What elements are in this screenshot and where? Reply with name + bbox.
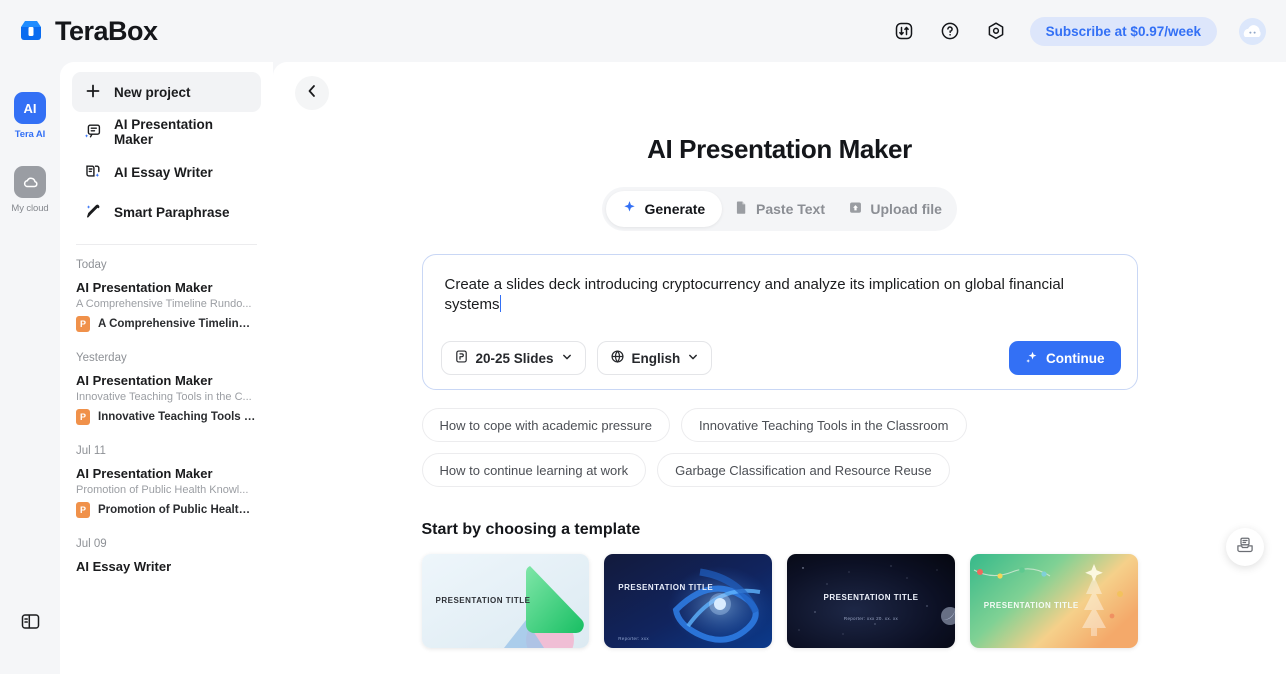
- nav-item-ai-presentation-maker[interactable]: AI Presentation Maker: [72, 112, 261, 152]
- tab-label-upload-file: Upload file: [870, 201, 942, 217]
- app-header: TeraBox Subscribe at $0.97/week: [0, 0, 1286, 62]
- nav-divider: [76, 244, 257, 245]
- history-item-subtitle: A Comprehensive Timeline Rundo...: [76, 298, 257, 310]
- history-item-title: AI Presentation Maker: [76, 280, 257, 295]
- history-item-file[interactable]: P Promotion of Public Health K...: [76, 502, 257, 518]
- nav-label-smart-paraphrase: Smart Paraphrase: [114, 205, 230, 220]
- main-content: AI Presentation Maker Generate Paste Tex…: [273, 62, 1286, 674]
- help-circle-icon[interactable]: [938, 19, 962, 43]
- rail-label-tera-ai: Tera AI: [15, 129, 45, 140]
- template-title: PRESENTATION TITLE: [618, 582, 713, 593]
- template-card[interactable]: PRESENTATION TITLE: [970, 554, 1138, 648]
- feedback-button[interactable]: [1226, 528, 1264, 566]
- tab-upload-file[interactable]: Upload file: [837, 191, 953, 227]
- history-date-label: Jul 11: [72, 445, 261, 457]
- template-card[interactable]: PRESENTATION TITLE Reporter: xxx: [604, 554, 772, 648]
- chevron-down-icon: [561, 351, 573, 366]
- list-item[interactable]: AI Essay Writer: [72, 559, 261, 574]
- history-item-title: AI Presentation Maker: [76, 466, 257, 481]
- history-item-file[interactable]: P A Comprehensive Timeline R...: [76, 316, 257, 332]
- back-button[interactable]: [295, 76, 329, 110]
- history-item-title: AI Essay Writer: [76, 559, 257, 574]
- nav-item-ai-essay-writer[interactable]: AI Essay Writer: [72, 152, 261, 192]
- nav-item-smart-paraphrase[interactable]: Smart Paraphrase: [72, 192, 261, 232]
- brand-name: TeraBox: [55, 16, 158, 47]
- nav-item-new-project[interactable]: New project: [72, 72, 261, 112]
- sparkle-icon: [622, 200, 637, 218]
- prompt-controls: 20-25 Slides English: [441, 341, 713, 375]
- upload-file-icon: [848, 200, 863, 218]
- history-date-label: Jul 09: [72, 538, 261, 550]
- history-item-subtitle: Innovative Teaching Tools in the C...: [76, 391, 257, 403]
- tera-ai-icon: AI: [14, 92, 46, 124]
- history-item-title: AI Presentation Maker: [76, 373, 257, 388]
- settings-hex-icon[interactable]: [984, 19, 1008, 43]
- language-select[interactable]: English: [597, 341, 713, 375]
- continue-label: Continue: [1046, 351, 1105, 366]
- sort-arrows-icon[interactable]: [892, 19, 916, 43]
- prompt-box[interactable]: Create a slides deck introducing cryptoc…: [422, 254, 1138, 390]
- history-group: Yesterday AI Presentation Maker Innovati…: [72, 352, 261, 425]
- avatar[interactable]: [1239, 18, 1266, 45]
- ppt-file-icon: P: [76, 316, 90, 332]
- suggestion-chip[interactable]: Garbage Classification and Resource Reus…: [657, 453, 950, 487]
- plus-icon: [84, 82, 102, 103]
- sparkle-icon: [1025, 350, 1039, 367]
- template-subtitle: Reporter: xxx 20. xx. xx: [787, 616, 955, 621]
- continue-button[interactable]: Continue: [1009, 341, 1121, 375]
- globe-icon: [610, 349, 625, 367]
- history-item-file[interactable]: P Innovative Teaching Tools in t...: [76, 409, 257, 425]
- template-thumbnail-blue-ribbon: [604, 554, 772, 648]
- header-actions: Subscribe at $0.97/week: [892, 17, 1266, 46]
- rail-label-my-cloud: My cloud: [11, 203, 48, 214]
- ppt-file-icon: [454, 349, 469, 367]
- history-item-file-name: A Comprehensive Timeline R...: [98, 318, 256, 330]
- rail-item-my-cloud[interactable]: My cloud: [11, 166, 48, 214]
- history-group: Today AI Presentation Maker A Comprehens…: [72, 259, 261, 332]
- tab-paste-text[interactable]: Paste Text: [722, 191, 838, 227]
- terabox-logo-icon: [16, 16, 46, 46]
- feedback-inbox-icon: [1235, 535, 1255, 560]
- template-title: PRESENTATION TITLE: [436, 595, 531, 606]
- chevron-down-icon: [687, 351, 699, 366]
- history-item-file-name: Innovative Teaching Tools in t...: [98, 411, 256, 423]
- tab-label-paste-text: Paste Text: [756, 201, 825, 217]
- template-row: PRESENTATION TITLE: [422, 554, 1138, 648]
- suggestion-chips: How to cope with academic pressure Innov…: [422, 408, 1138, 487]
- suggestion-chip[interactable]: Innovative Teaching Tools in the Classro…: [681, 408, 967, 442]
- template-title: PRESENTATION TITLE: [984, 600, 1079, 611]
- presentation-icon: [84, 122, 102, 143]
- history-item-subtitle: Promotion of Public Health Knowl...: [76, 484, 257, 496]
- tera-ai-badge-text: AI: [24, 101, 37, 116]
- history-item-file-name: Promotion of Public Health K...: [98, 504, 256, 516]
- template-title: PRESENTATION TITLE: [787, 592, 955, 603]
- suggestion-chip[interactable]: How to continue learning at work: [422, 453, 647, 487]
- slides-count-select[interactable]: 20-25 Slides: [441, 341, 586, 375]
- template-card[interactable]: PRESENTATION TITLE: [422, 554, 590, 648]
- ppt-file-icon: P: [76, 502, 90, 518]
- brand-logo[interactable]: TeraBox: [16, 16, 158, 47]
- paraphrase-pen-icon: [84, 202, 102, 223]
- slides-count-value: 20-25 Slides: [476, 351, 554, 366]
- nav-panel: New project AI Presentation Maker AI Ess…: [60, 62, 273, 674]
- history-group: Jul 11 AI Presentation Maker Promotion o…: [72, 445, 261, 518]
- suggestion-chip[interactable]: How to cope with academic pressure: [422, 408, 670, 442]
- essay-icon: [84, 162, 102, 183]
- list-item[interactable]: AI Presentation Maker Promotion of Publi…: [72, 466, 261, 518]
- templates-heading: Start by choosing a template: [422, 521, 1138, 539]
- list-item[interactable]: AI Presentation Maker Innovative Teachin…: [72, 373, 261, 425]
- template-card[interactable]: PRESENTATION TITLE Reporter: xxx 20. xx.…: [787, 554, 955, 648]
- tab-label-generate: Generate: [644, 201, 705, 217]
- page-title: AI Presentation Maker: [273, 134, 1286, 165]
- template-subtitle: Reporter: xxx: [618, 636, 649, 641]
- history-date-label: Today: [72, 259, 261, 271]
- history-group: Jul 09 AI Essay Writer: [72, 538, 261, 574]
- list-item[interactable]: AI Presentation Maker A Comprehensive Ti…: [72, 280, 261, 332]
- prompt-input[interactable]: Create a slides deck introducing cryptoc…: [445, 276, 1065, 313]
- tab-generate[interactable]: Generate: [606, 191, 722, 227]
- panel-toggle-icon[interactable]: [0, 611, 60, 632]
- nav-label-ai-presentation-maker: AI Presentation Maker: [114, 117, 249, 147]
- history-date-label: Yesterday: [72, 352, 261, 364]
- language-value: English: [632, 351, 681, 366]
- ppt-file-icon: P: [76, 409, 90, 425]
- document-icon: [734, 200, 749, 218]
- mode-tabbar: Generate Paste Text Upload file: [602, 187, 957, 231]
- subscribe-button[interactable]: Subscribe at $0.97/week: [1030, 17, 1217, 46]
- rail-item-tera-ai[interactable]: AI Tera AI: [14, 92, 46, 140]
- nav-label-ai-essay-writer: AI Essay Writer: [114, 165, 213, 180]
- nav-label-new-project: New project: [114, 85, 191, 100]
- chevron-left-icon: [304, 83, 320, 104]
- cloud-icon: [14, 166, 46, 198]
- left-rail: AI Tera AI My cloud: [0, 62, 60, 674]
